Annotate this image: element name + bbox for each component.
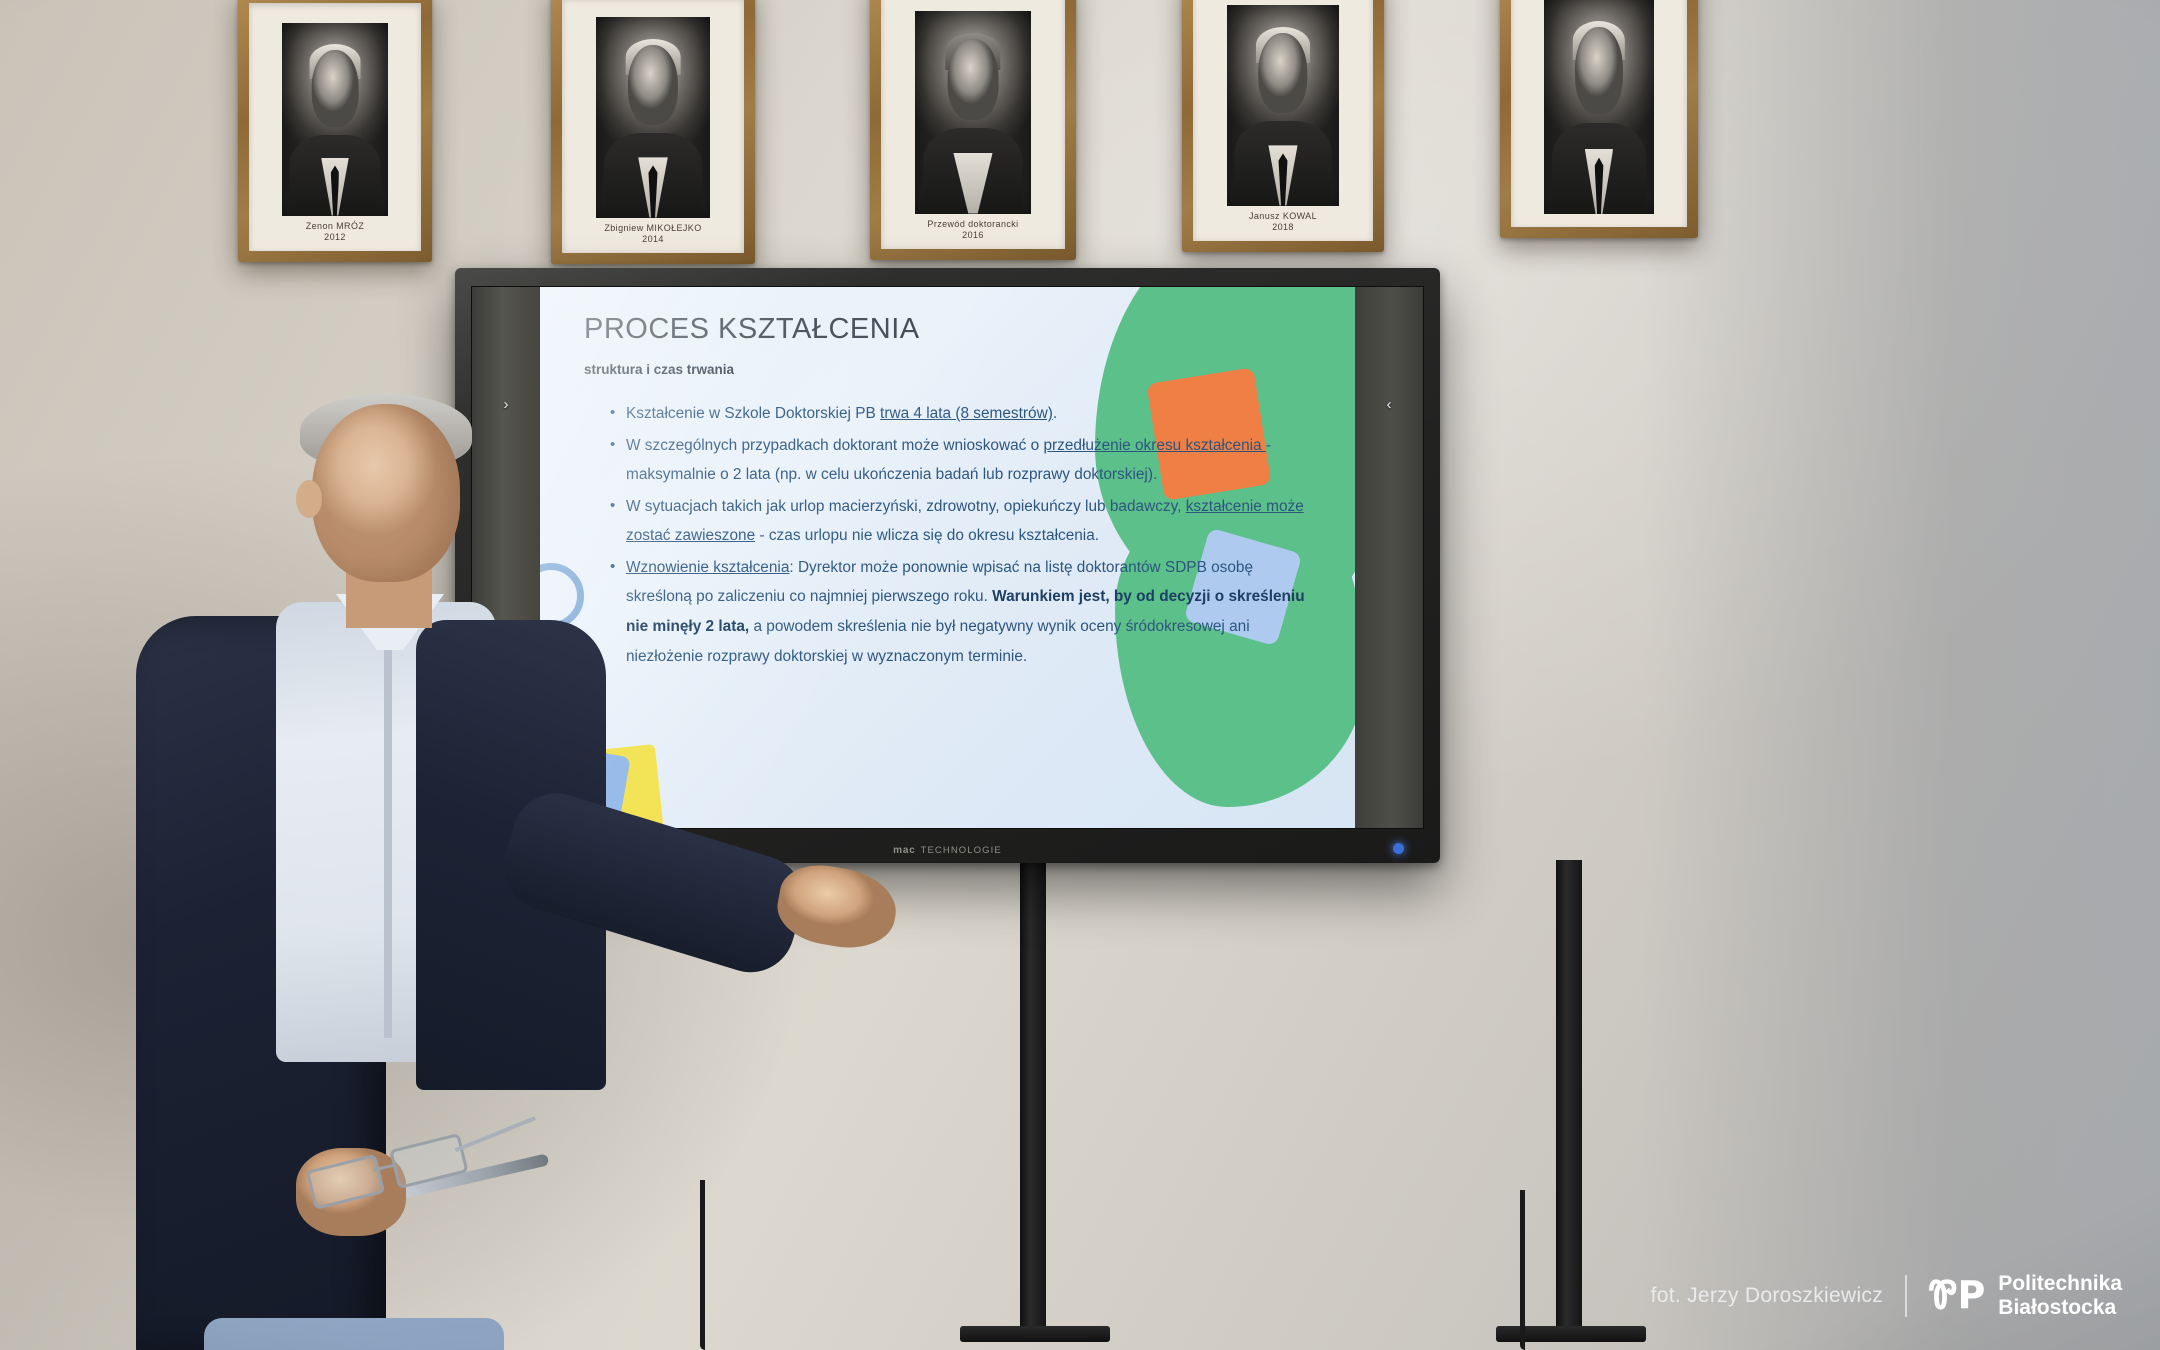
- portrait-name: Janusz KOWAL: [1249, 211, 1317, 221]
- portrait-photo: [1227, 5, 1339, 206]
- photo-credit: fot. Jerzy Doroszkiewicz: [1651, 1284, 1883, 1308]
- bullet-text: .: [1053, 405, 1057, 422]
- portrait-frame: Przewód doktorancki 2016: [870, 0, 1076, 260]
- display-stand-right-leg: [1556, 860, 1582, 1330]
- display-stand-base: [960, 1326, 1110, 1342]
- slide-bullet-list: Kształcenie w Szkole Doktorskiej PB trwa…: [584, 399, 1315, 671]
- portrait-year: 2012: [324, 232, 346, 242]
- trousers: [204, 1318, 504, 1350]
- display-brand-suffix: TECHNOLOGIE: [921, 845, 1002, 856]
- portrait-name: Zbigniew MIKOŁEJKO: [604, 223, 701, 233]
- bullet-text: W sytuacjach takich jak urlop macierzyńs…: [626, 498, 1186, 515]
- photo-credit-bar: fot. Jerzy Doroszkiewicz ᏈP Politechnika…: [1651, 1272, 2122, 1320]
- display-right-rail: ‹: [1355, 287, 1423, 828]
- photo-scene: Zenon MRÓZ 2012 Zbigniew MIKOŁEJKO 2014 …: [0, 0, 2160, 1350]
- display-brand-name: mac: [893, 845, 915, 856]
- portrait-photo: [915, 11, 1030, 214]
- pb-monogram-icon: ᏈP: [1929, 1280, 1985, 1311]
- bullet-underlined-text: trwa 4 lata (8 semestrów): [880, 405, 1053, 422]
- display-brand-logo: mac TECHNOLOGIE: [893, 845, 1002, 856]
- head: [312, 404, 460, 582]
- power-cable: [700, 1180, 705, 1350]
- portrait-mat: Janusz KOWAL 2018: [1193, 0, 1373, 241]
- portrait-name: Przewód doktorancki: [927, 219, 1018, 229]
- slide-content: PROCES KSZTAŁCENIA struktura i czas trwa…: [540, 287, 1355, 683]
- university-logo: ᏈP Politechnika Białostocka: [1929, 1272, 2122, 1320]
- portrait-mat: Zenon MRÓZ 2012: [249, 3, 421, 251]
- portrait-frame: Zenon MRÓZ 2012: [238, 0, 432, 262]
- chevron-left-icon[interactable]: ‹: [1387, 397, 1392, 412]
- presentation-slide: PROCES KSZTAŁCENIA struktura i czas trwa…: [540, 287, 1355, 828]
- portrait-photo: [282, 23, 388, 216]
- portrait-mat: Przewód doktorancki 2016: [881, 0, 1065, 249]
- display-stand-base: [1496, 1326, 1646, 1342]
- power-led-indicator: [1393, 843, 1404, 854]
- university-name: Politechnika Białostocka: [1998, 1272, 2122, 1320]
- signal-cable: [1520, 1190, 1525, 1350]
- portrait-mat: Zbigniew MIKOŁEJKO 2014: [562, 0, 744, 253]
- portrait-frame: Zbigniew MIKOŁEJKO 2014: [551, 0, 755, 264]
- portrait-caption: Janusz KOWAL 2018: [1249, 206, 1317, 234]
- slide-bullet: Wznowienie kształcenia: Dyrektor może po…: [610, 553, 1315, 671]
- bullet-text: - czas urlopu nie wlicza się do okresu k…: [755, 527, 1099, 544]
- university-name-line1: Politechnika: [1998, 1272, 2122, 1295]
- portrait-photo: [1544, 0, 1653, 214]
- shirt-placket: [384, 638, 392, 1038]
- bullet-underlined-text: Wznowienie kształcenia: [626, 559, 789, 576]
- slide-title: PROCES KSZTAŁCENIA: [584, 313, 1315, 346]
- portrait-caption: Przewód doktorancki 2016: [927, 214, 1018, 242]
- university-name-line2: Białostocka: [1998, 1296, 2116, 1319]
- portrait-mat: [1511, 0, 1687, 227]
- slide-subtitle: struktura i czas trwania: [584, 362, 1315, 377]
- bullet-text: W szczególnych przypadkach doktorant moż…: [626, 437, 1043, 454]
- ear: [296, 480, 322, 518]
- presenter: [100, 388, 620, 1350]
- bullet-underlined-text: przedłużenie okresu kształcenia: [1043, 437, 1265, 454]
- portrait-caption: Zbigniew MIKOŁEJKO 2014: [604, 218, 701, 246]
- portrait-name: Zenon MRÓZ: [306, 221, 365, 231]
- slide-bullet: W szczególnych przypadkach doktorant moż…: [610, 431, 1315, 490]
- portrait-year: 2014: [642, 234, 664, 244]
- bullet-text: Kształcenie w Szkole Doktorskiej PB: [626, 405, 880, 422]
- wall-right-panel: [1640, 0, 2160, 1350]
- portrait-photo: [596, 17, 710, 218]
- portrait-frame: Janusz KOWAL 2018: [1182, 0, 1384, 252]
- slide-bullet: W sytuacjach takich jak urlop macierzyńs…: [610, 492, 1315, 551]
- portrait-frame: [1500, 0, 1698, 238]
- display-stand-left-leg: [1020, 860, 1046, 1330]
- portrait-year: 2016: [962, 230, 984, 240]
- slide-bullet: Kształcenie w Szkole Doktorskiej PB trwa…: [610, 399, 1315, 429]
- portrait-year: 2018: [1272, 222, 1294, 232]
- portrait-caption: Zenon MRÓZ 2012: [306, 216, 365, 244]
- credit-divider: [1905, 1275, 1907, 1317]
